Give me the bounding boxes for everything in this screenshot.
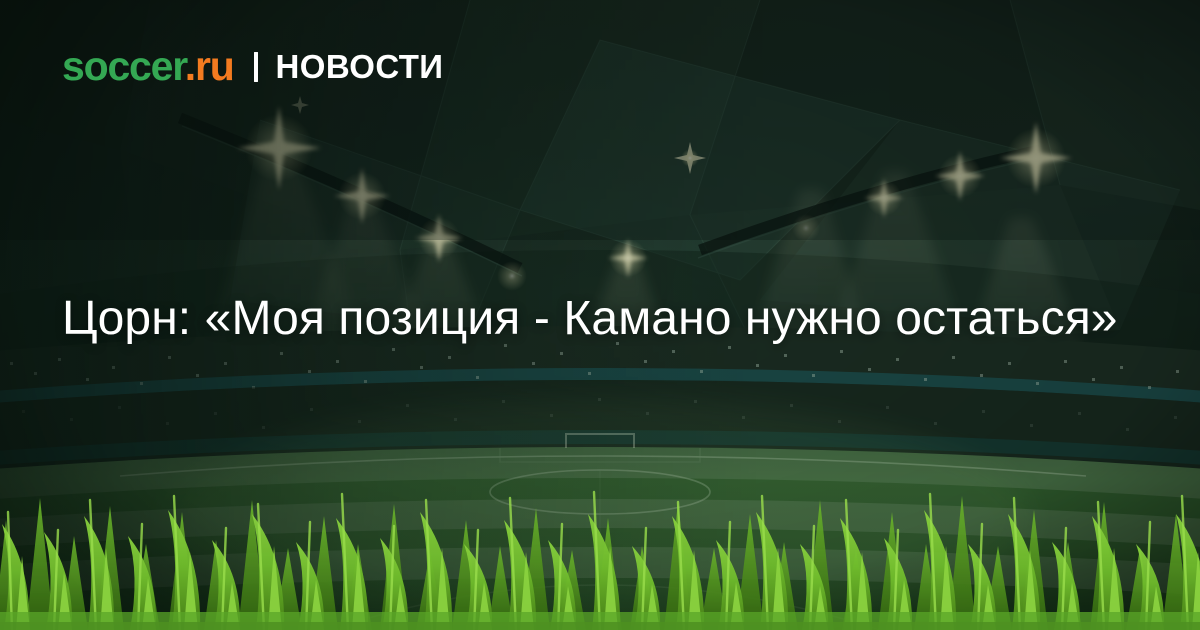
page-title: Цорн: «Моя позиция - Камано нужно остать… xyxy=(62,290,1132,347)
section-label-news[interactable]: НОВОСТИ xyxy=(276,50,444,83)
brand-separator-icon xyxy=(254,52,258,82)
logo-name-text: soccer xyxy=(62,43,185,89)
brand-bar: soccer.ru НОВОСТИ xyxy=(62,46,443,87)
logo-tld-text: .ru xyxy=(185,43,234,89)
site-logo[interactable]: soccer.ru xyxy=(62,46,234,87)
news-share-card: soccer.ru НОВОСТИ Цорн: «Моя позиция - К… xyxy=(0,0,1200,630)
